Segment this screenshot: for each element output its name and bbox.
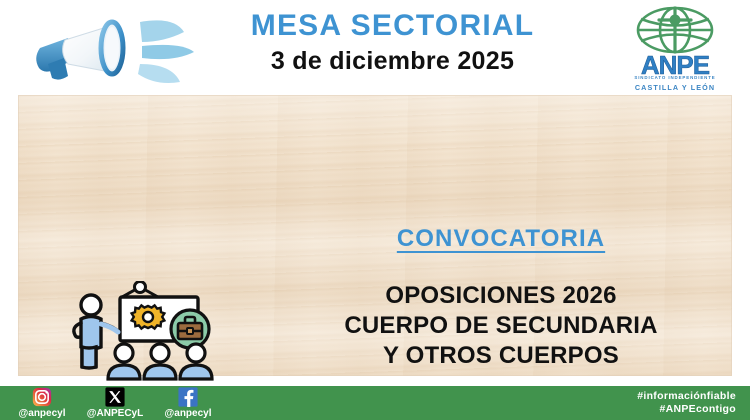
body-line-1: OPOSICIONES 2026 [268, 281, 734, 311]
anpe-globe-icon [615, 6, 735, 54]
hashtag-anpe-contigo: #ANPEcontigo [637, 403, 736, 416]
facebook-icon[interactable] [178, 387, 198, 407]
instagram-icon[interactable] [32, 387, 52, 407]
megaphone-icon [24, 12, 204, 90]
facebook-handle[interactable]: @anpecyl [165, 408, 212, 420]
social-link-x-twitter[interactable]: @ANPECyL [83, 387, 147, 420]
anpe-region: CASTILLA Y LEÓN [615, 83, 735, 92]
anpe-logo: ANPE SINDICATO INDEPENDIENTE CASTILLA Y … [615, 6, 735, 92]
social-link-facebook[interactable]: @anpecyl [156, 387, 220, 420]
body-line-2: CUERPO DE SECUNDARIA [268, 311, 734, 341]
main-panel: CONVOCATORIA OPOSICIONES 2026 CUERPO DE … [18, 95, 732, 376]
page-title: MESA SECTORIAL [195, 8, 590, 44]
meeting-date: 3 de diciembre 2025 [195, 44, 590, 78]
social-link-instagram[interactable]: @anpecyl [10, 387, 74, 420]
poster-header: MESA SECTORIAL 3 de diciembre 2025 A [0, 0, 750, 95]
instagram-handle[interactable]: @anpecyl [19, 408, 66, 420]
poster-footer: @anpecyl @ANPECyL @anpecyl #informaciónf… [0, 386, 750, 420]
x-twitter-handle[interactable]: @ANPECyL [87, 408, 143, 420]
announcement-body: OPOSICIONES 2026 CUERPO DE SECUNDARIA Y … [268, 281, 734, 371]
anpe-subtitle: SINDICATO INDEPENDIENTE [615, 75, 735, 81]
social-links: @anpecyl @ANPECyL @anpecyl [10, 387, 220, 420]
poster-canvas: MESA SECTORIAL 3 de diciembre 2025 A [0, 0, 750, 420]
hashtag-block: #informaciónfiable #ANPEcontigo [637, 390, 736, 416]
body-line-3: Y OTROS CUERPOS [268, 341, 734, 371]
x-twitter-icon[interactable] [105, 387, 125, 407]
classroom-teacher-icon [62, 281, 238, 389]
section-heading: CONVOCATORIA [268, 225, 734, 253]
header-title-block: MESA SECTORIAL 3 de diciembre 2025 [195, 8, 590, 90]
hashtag-informacion-fiable: #informaciónfiable [637, 390, 736, 403]
